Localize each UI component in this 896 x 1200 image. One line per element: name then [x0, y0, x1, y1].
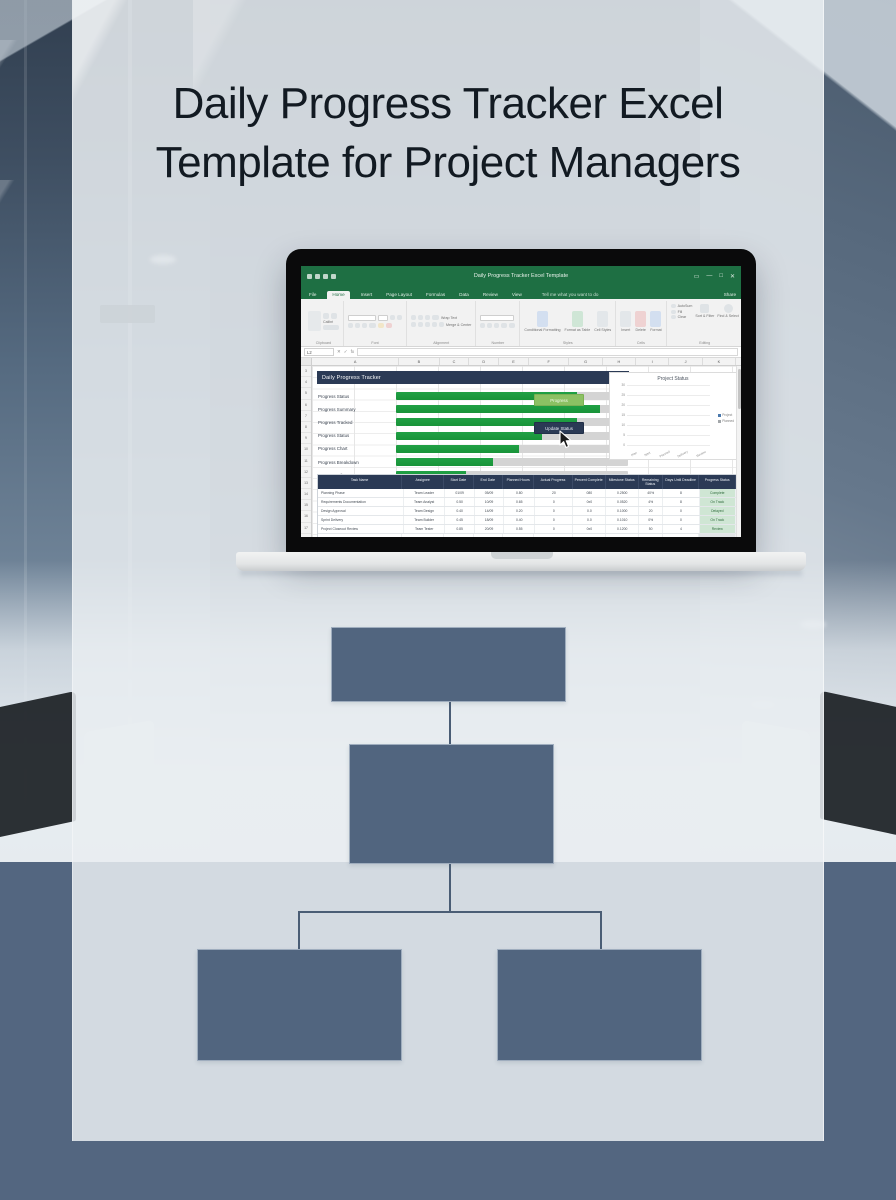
sort-filter-icon[interactable]: [700, 304, 709, 313]
table-cell: 20/09: [475, 525, 504, 533]
table-cell-empty: .: [639, 534, 663, 537]
format-as-table-icon[interactable]: [572, 311, 583, 327]
ribbon-group-editing[interactable]: AutoSum Fill Clear Sort & Filter: [667, 301, 741, 346]
chart-gridline: 30: [627, 385, 710, 386]
node-bottom-right[interactable]: [497, 949, 702, 1061]
cut-icon[interactable]: [323, 313, 329, 319]
table-cell: 0x0: [573, 525, 606, 533]
delete-cells-icon[interactable]: [635, 311, 646, 327]
table-cell: 01/09: [445, 489, 474, 497]
row-header-cell[interactable]: 8: [301, 422, 311, 433]
group-label-cells: Cells: [620, 340, 661, 345]
delete-label: Delete: [636, 328, 646, 332]
font-name-box[interactable]: [348, 315, 376, 321]
table-column-header[interactable]: Start Date: [444, 475, 473, 489]
laptop-lid: Daily Progress Tracker Excel Template ▭ …: [286, 249, 756, 557]
insert-cells-icon[interactable]: [620, 311, 631, 327]
ribbon-group-number[interactable]: Number: [476, 301, 520, 346]
format-painter-label: Calibri: [323, 320, 339, 324]
connector-horizontal-bus: [298, 911, 602, 913]
tell-me-search[interactable]: Tell me what you want to do: [539, 292, 602, 299]
excel-ribbon[interactable]: Calibri Clipboard: [301, 299, 741, 347]
ribbon-group-font[interactable]: Font: [344, 301, 407, 346]
progress-track: [396, 445, 628, 453]
legend-entry-planned: Planned: [718, 419, 734, 423]
status-badge: On Track: [700, 498, 736, 506]
table-cell: 0.55: [504, 525, 535, 533]
autosum-icon[interactable]: [671, 304, 676, 308]
find-select-icon[interactable]: [724, 304, 733, 313]
tab-formulas[interactable]: Formulas: [423, 292, 448, 299]
table-cell: 0.80: [504, 489, 535, 497]
connector-top-to-middle: [449, 702, 451, 744]
column-header-g[interactable]: G: [569, 358, 602, 365]
cell-styles-label: Cell Styles: [594, 328, 611, 332]
table-cell: 0.1010: [606, 516, 639, 524]
insert-label: Insert: [621, 328, 630, 332]
table-cell: 0x0: [573, 498, 606, 506]
node-bottom-left[interactable]: [197, 949, 402, 1061]
cancel-formula-icon[interactable]: ✕: [337, 349, 341, 355]
progress-row-label: Progress Status: [318, 433, 396, 438]
table-cell: Team Analyst: [404, 498, 446, 506]
table-cell: 10/09: [475, 498, 504, 506]
worksheet-area[interactable]: 3456789101112131415161718192021222324252…: [301, 366, 741, 537]
progress-row-label: Progress Tracked: [318, 420, 396, 425]
chart-gridline: 25: [627, 395, 710, 396]
column-header-a[interactable]: A: [312, 358, 399, 365]
table-cell: 05/09: [475, 489, 504, 497]
table-row[interactable]: Project Closeout ReviewTeam Tester0.8520…: [318, 525, 736, 534]
column-header-row[interactable]: A B C D E F G H I J K: [301, 358, 741, 366]
progress-track: [396, 405, 628, 413]
progress-track: [396, 432, 628, 440]
table-cell: 0.40: [445, 507, 474, 515]
row-header-cell[interactable]: 14: [301, 489, 311, 500]
worksheet-grid[interactable]: Daily Progress Tracker Progress StatusPr…: [312, 366, 741, 537]
table-column-header[interactable]: Remaining Status: [639, 475, 663, 489]
table-cell: 0: [663, 507, 699, 515]
table-cell: 0.1200: [606, 525, 639, 533]
chart-y-tick: 25: [621, 393, 625, 397]
table-row[interactable]: Planning PhaseTeam Leader01/0905/090.802…: [318, 489, 736, 498]
node-top[interactable]: [331, 627, 566, 702]
chart-title: Project Status: [610, 373, 736, 382]
table-cell-empty: .: [444, 534, 473, 537]
flowchart-diagram: [73, 585, 824, 1085]
table-cell: 0.85: [445, 525, 474, 533]
table-cell: 8: [663, 498, 699, 506]
progress-row-label: Progress Breakdown: [318, 460, 396, 465]
column-header-c[interactable]: C: [440, 358, 470, 365]
chart-y-tick: 30: [621, 383, 625, 387]
align-left-icon[interactable]: [411, 322, 416, 327]
format-painter-icon[interactable]: [323, 325, 339, 330]
ribbon-group-alignment[interactable]: Wrap Text Merge & Center: [407, 301, 476, 346]
vertical-scrollbar[interactable]: [736, 366, 741, 537]
row-header-cell[interactable]: 18: [301, 534, 311, 537]
table-cell: 0: [535, 507, 573, 515]
table-cell: 0.40: [504, 516, 535, 524]
column-header-i[interactable]: I: [636, 358, 669, 365]
chart-x-tick: Start: [644, 451, 652, 458]
currency-icon[interactable]: [480, 323, 485, 328]
table-cell-empty: .: [534, 534, 572, 537]
table-column-header[interactable]: Percent Complete: [573, 475, 606, 489]
chart-y-tick: 20: [621, 403, 625, 407]
column-header-h[interactable]: H: [603, 358, 636, 365]
progress-row: Progress Chart: [318, 443, 628, 455]
row-header-cell[interactable]: 9: [301, 433, 311, 444]
table-cell: 0.0: [573, 507, 606, 515]
align-top-icon[interactable]: [411, 315, 416, 320]
progress-fill: [396, 458, 493, 466]
number-format-box[interactable]: [480, 315, 514, 321]
row-header-cell[interactable]: 10: [301, 444, 311, 455]
node-middle[interactable]: [349, 744, 554, 864]
table-cell: 0.65: [504, 498, 535, 506]
group-label-clipboard: Clipboard: [308, 340, 339, 345]
chart-gridline: 15: [627, 415, 710, 416]
page-root: Daily Progress Tracker Excel Template fo…: [0, 0, 896, 1200]
table-column-header[interactable]: Milestone Status: [606, 475, 639, 489]
conditional-formatting-icon[interactable]: [537, 311, 548, 327]
table-cell: 0: [535, 525, 573, 533]
content-panel: Daily Progress Tracker Excel Template fo…: [72, 0, 824, 1141]
progress-fill: [396, 445, 519, 453]
row-header-cell[interactable]: 6: [301, 400, 311, 411]
table-cell: Planning Phase: [318, 489, 404, 497]
table-cell: Design Approval: [318, 507, 404, 515]
table-cell: 0: [535, 516, 573, 524]
table-cell-empty: .: [663, 534, 700, 537]
bold-icon[interactable]: [348, 323, 353, 328]
column-header-b[interactable]: B: [399, 358, 440, 365]
chart-x-axis-labels: PlanStartPlannedDeliveryReview: [627, 452, 710, 456]
table-cell-empty: .: [573, 534, 606, 537]
group-label-editing: Editing: [671, 340, 739, 345]
formula-bar-row[interactable]: L2 ✕ ✓ fx: [301, 347, 741, 358]
table-row-empty[interactable]: ...........: [318, 534, 736, 537]
table-cell-empty: .: [402, 534, 444, 537]
connector-middle-down: [449, 864, 451, 912]
table-cell: Project Closeout Review: [318, 525, 404, 533]
ribbon-group-cells[interactable]: Insert Delete Format: [616, 301, 666, 346]
table-cell: 0.2500: [606, 489, 639, 497]
find-select-label: Find & Select: [717, 314, 738, 318]
table-cell-empty: .: [606, 534, 639, 537]
status-badge: Review: [700, 525, 736, 533]
laptop-trackpad-notch: [491, 552, 553, 559]
table-body[interactable]: Planning PhaseTeam Leader01/0905/090.802…: [318, 489, 736, 537]
table-cell: 8: [663, 489, 699, 497]
table-cell-empty: .: [699, 534, 736, 537]
page-title-line2: Template for Project Managers: [93, 133, 803, 192]
table-column-header[interactable]: Task Name: [318, 475, 402, 489]
table-column-header[interactable]: Assignee: [402, 475, 444, 489]
tab-page-layout[interactable]: Page Layout: [383, 292, 415, 299]
increase-decimal-icon[interactable]: [501, 323, 507, 328]
ribbon-group-clipboard[interactable]: Calibri Clipboard: [304, 301, 344, 346]
excel-document-title: Daily Progress Tracker Excel Template: [301, 273, 741, 279]
table-cell: 0.1000: [606, 507, 639, 515]
row-header-cell[interactable]: 16: [301, 511, 311, 522]
table-cell: 080: [573, 489, 606, 497]
page-title-line1: Daily Progress Tracker Excel: [93, 74, 803, 133]
table-cell: 0: [663, 516, 699, 524]
chart-y-tick: 15: [621, 413, 625, 417]
format-cells-icon[interactable]: [650, 311, 661, 327]
tab-file[interactable]: File: [306, 292, 319, 299]
chart-y-tick: 10: [621, 423, 625, 427]
chart-x-tick: Delivery: [677, 450, 689, 459]
table-cell: 50: [639, 525, 663, 533]
name-box[interactable]: L2: [304, 348, 334, 356]
chart-plot-area: 051015202530: [627, 386, 710, 446]
laptop-mockup: Daily Progress Tracker Excel Template ▭ …: [286, 249, 756, 574]
group-label-font: Font: [348, 340, 402, 345]
orientation-icon[interactable]: [432, 315, 439, 320]
ribbon-group-styles[interactable]: Conditional Formatting Format as Table C…: [520, 301, 616, 346]
align-center-icon[interactable]: [418, 322, 423, 327]
progress-fill: [396, 405, 600, 413]
table-cell: Sprint Delivery: [318, 516, 404, 524]
chart-gridline: 10: [627, 425, 710, 426]
clear-icon[interactable]: [671, 315, 676, 319]
office-chair: [820, 691, 896, 838]
chart-gridline: 20: [627, 405, 710, 406]
align-bottom-icon[interactable]: [425, 315, 430, 320]
tab-view[interactable]: View: [509, 292, 525, 299]
project-status-chart[interactable]: Project Status 051015202530 PlanStartPla…: [609, 372, 737, 460]
row-header-cell[interactable]: 11: [301, 456, 311, 467]
table-cell: Team Design: [404, 507, 446, 515]
status-badge: Delayed: [700, 507, 736, 515]
legend-entry-project: Project: [718, 413, 734, 417]
paste-icon[interactable]: [308, 311, 321, 331]
tab-review[interactable]: Review: [480, 292, 501, 299]
chart-y-tick: 5: [623, 433, 625, 437]
increase-font-size-icon[interactable]: [390, 315, 395, 320]
chart-x-tick: Planned: [658, 450, 670, 459]
laptop-screen: Daily Progress Tracker Excel Template ▭ …: [301, 266, 741, 537]
progress-track: [396, 392, 628, 400]
progress-button[interactable]: Progress: [534, 394, 584, 406]
decrease-decimal-icon[interactable]: [509, 323, 515, 328]
table-column-header[interactable]: Actual Progress: [534, 475, 572, 489]
office-chair: [0, 691, 76, 839]
merge-center-label[interactable]: Merge & Center: [446, 323, 471, 327]
table-cell: 4: [663, 525, 699, 533]
laptop-base-shadow: [240, 570, 802, 579]
table-row[interactable]: Design ApprovalTeam Design0.4014/090.200…: [318, 507, 736, 516]
table-cell: Team Leader: [404, 489, 446, 497]
group-label-number: Number: [480, 340, 515, 345]
table-cell-empty: .: [503, 534, 534, 537]
table-cell: 0%: [639, 516, 663, 524]
progress-fill: [396, 432, 542, 440]
font-size-box[interactable]: [378, 315, 388, 321]
table-column-header[interactable]: Planned Hours: [503, 475, 534, 489]
fill-color-icon[interactable]: [378, 323, 384, 328]
row-header-cell[interactable]: 5: [301, 388, 311, 399]
ribbon-tab-strip[interactable]: File Home Insert Page Layout Formulas Da…: [301, 286, 741, 299]
table-cell: 0: [535, 498, 573, 506]
status-badge: Complete: [700, 489, 736, 497]
italic-icon[interactable]: [355, 323, 360, 328]
column-header-j[interactable]: J: [669, 358, 702, 365]
column-header-e[interactable]: E: [499, 358, 529, 365]
progress-row: Progress Breakdown: [318, 456, 628, 468]
select-all-corner[interactable]: [301, 358, 312, 365]
table-cell: 0.50: [445, 498, 474, 506]
share-button[interactable]: Share: [724, 292, 736, 299]
progress-row-label: Progress Status: [318, 394, 396, 399]
row-header-cell[interactable]: 15: [301, 500, 311, 511]
column-header-f[interactable]: F: [529, 358, 570, 365]
align-right-icon[interactable]: [425, 322, 430, 327]
row-header-cell[interactable]: 17: [301, 523, 311, 534]
table-cell: 4%: [639, 498, 663, 506]
task-data-table[interactable]: Task NameAssigneeStart DateEnd DatePlann…: [317, 474, 737, 537]
row-header-cell[interactable]: 4: [301, 377, 311, 388]
table-cell: 0.0520: [606, 498, 639, 506]
align-middle-icon[interactable]: [418, 315, 423, 320]
vertical-scroll-thumb[interactable]: [738, 369, 741, 409]
connector-bus-to-right: [600, 911, 602, 949]
row-header-cell[interactable]: 13: [301, 478, 311, 489]
insert-function-icon[interactable]: fx: [351, 349, 355, 355]
table-cell: 40%: [639, 489, 663, 497]
row-header-column[interactable]: 3456789101112131415161718192021222324252…: [301, 366, 312, 537]
comma-style-icon[interactable]: [494, 323, 499, 328]
table-cell: 20: [639, 507, 663, 515]
decrease-indent-icon[interactable]: [432, 322, 437, 327]
page-title: Daily Progress Tracker Excel Template fo…: [73, 74, 823, 192]
tab-data[interactable]: Data: [456, 292, 472, 299]
font-color-icon[interactable]: [386, 323, 392, 328]
connector-bus-to-left: [298, 911, 300, 949]
progress-row-label: Progress Chart: [318, 446, 396, 451]
row-header-cell[interactable]: 3: [301, 366, 311, 377]
table-cell: Requirements Documentation: [318, 498, 404, 506]
table-column-header[interactable]: End Date: [474, 475, 503, 489]
table-row[interactable]: Requirements DocumentationTeam Analyst0.…: [318, 498, 736, 507]
table-cell: Team Tester: [404, 525, 446, 533]
tab-home[interactable]: Home: [327, 291, 349, 299]
fill-icon[interactable]: [671, 310, 676, 314]
column-header-d[interactable]: D: [469, 358, 499, 365]
format-as-table-label: Format as Table: [565, 328, 591, 332]
increase-indent-icon[interactable]: [439, 322, 444, 327]
table-column-header[interactable]: Days Until Deadline: [663, 475, 700, 489]
format-label: Format: [650, 328, 661, 332]
conditional-formatting-label: Conditional Formatting: [524, 328, 560, 332]
formula-input[interactable]: [357, 348, 738, 356]
dashboard-banner: Daily Progress Tracker: [317, 371, 629, 384]
column-header-k[interactable]: K: [703, 358, 736, 365]
clear-label: Clear: [678, 315, 687, 319]
chart-x-tick: Plan: [630, 451, 637, 457]
sort-filter-label: Sort & Filter: [695, 314, 714, 318]
chart-gridline: 0: [627, 445, 710, 446]
cell-styles-icon[interactable]: [597, 311, 608, 327]
table-cell: 20: [535, 489, 573, 497]
table-cell: 18/09: [475, 516, 504, 524]
chart-x-tick: Review: [696, 450, 707, 458]
table-header-row[interactable]: Task NameAssigneeStart DateEnd DatePlann…: [318, 475, 736, 489]
row-header-cell[interactable]: 7: [301, 411, 311, 422]
wrap-text-label[interactable]: Wrap Text: [441, 316, 457, 320]
group-label-alignment: Alignment: [411, 340, 471, 345]
table-column-header[interactable]: Progress Status: [699, 475, 736, 489]
group-label-styles: Styles: [524, 340, 611, 345]
table-cell: 0.45: [445, 516, 474, 524]
borders-icon[interactable]: [369, 323, 376, 328]
table-cell-empty: .: [318, 534, 402, 537]
tab-insert[interactable]: Insert: [358, 292, 376, 299]
table-cell: 14/09: [475, 507, 504, 515]
fill-label: Fill: [678, 310, 683, 314]
status-badge: On Track: [700, 516, 736, 524]
progress-row-label: Progress Summary: [318, 407, 396, 412]
underline-icon[interactable]: [362, 323, 367, 328]
excel-title-bar: Daily Progress Tracker Excel Template ▭ …: [301, 266, 741, 286]
chart-legend: Project Planned: [718, 413, 734, 425]
percent-icon[interactable]: [487, 323, 492, 328]
table-cell: 0.20: [504, 507, 535, 515]
table-row[interactable]: Sprint DeliveryTeam Builder0.4518/090.40…: [318, 516, 736, 525]
decrease-font-size-icon[interactable]: [397, 315, 402, 320]
row-header-cell[interactable]: 12: [301, 467, 311, 478]
chart-y-tick: 0: [623, 443, 625, 447]
table-cell-empty: .: [474, 534, 503, 537]
copy-icon[interactable]: [331, 313, 337, 319]
progress-track: [396, 418, 628, 426]
table-cell: Team Builder: [404, 516, 446, 524]
enter-formula-icon[interactable]: ✓: [344, 349, 348, 355]
autosum-label: AutoSum: [678, 304, 693, 308]
progress-track: [396, 458, 628, 466]
chart-gridline: 5: [627, 435, 710, 436]
table-cell: 0.0: [573, 516, 606, 524]
